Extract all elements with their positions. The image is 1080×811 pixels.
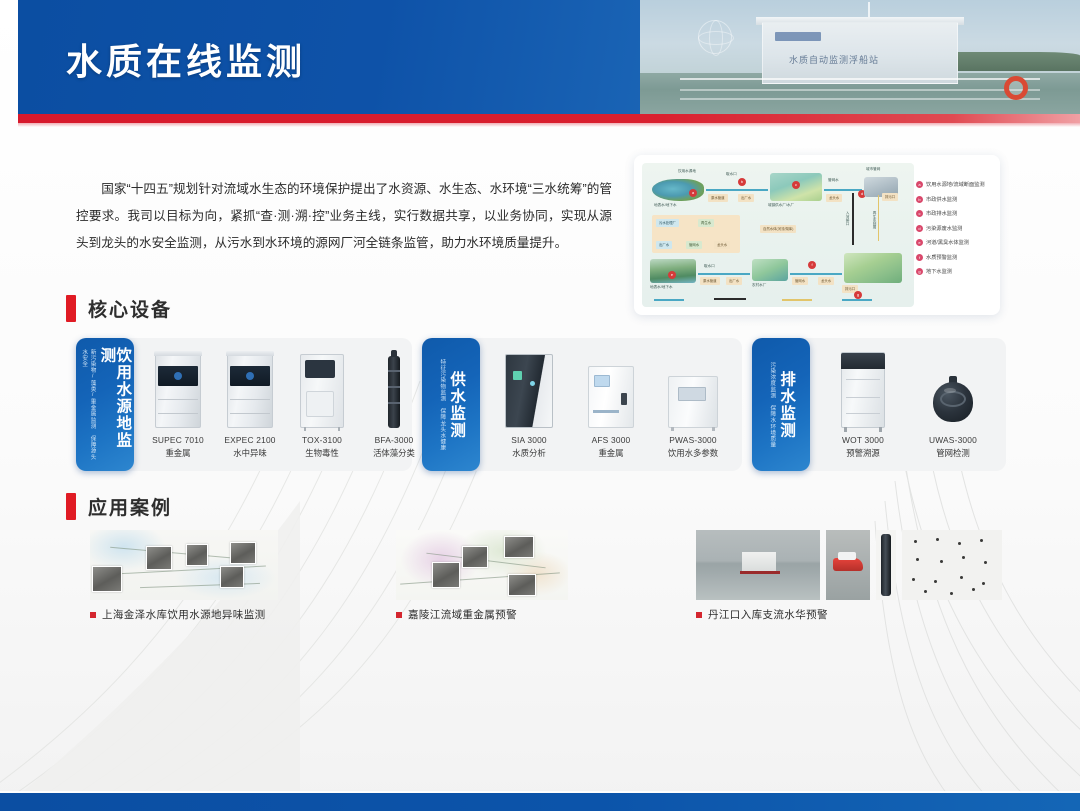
- header-red-stripe: [18, 114, 1080, 123]
- page-title: 水质在线监测: [66, 33, 306, 85]
- case-caption: 嘉陵江流域重金属预警: [396, 607, 568, 622]
- legend-item: f 水质预警监测: [916, 254, 990, 261]
- legend-item: g 地下水监测: [916, 268, 990, 275]
- cases-row: 上海金泽水库饮用水源地异味监测 嘉陵江流域重金属预警: [76, 530, 1006, 640]
- section-heading-core-equipment: 核心设备: [66, 295, 172, 322]
- diagram-inset-chip-5: 龙头水: [714, 241, 730, 249]
- section-bar-icon: [66, 295, 76, 322]
- case-photo-probe: [876, 530, 896, 600]
- equipment-items: WOT 3000 预警溯源 UWAS-3000 管网检测: [810, 338, 1006, 471]
- diagram-label-surface-water: 地表水/地下水: [654, 203, 677, 208]
- diagram-label-reuse: 再生水回用: [873, 211, 878, 229]
- legend-label: 市政供水监测: [926, 196, 957, 203]
- equipment-badge-subtitle: 特征污染物监测 保障龙头水健康: [438, 359, 446, 451]
- diagram-label-rural-pipe: 取水口: [704, 264, 715, 269]
- diagram-pipe-to-city: [790, 273, 842, 275]
- section-heading-applications: 应用案例: [66, 493, 172, 520]
- equipment-badge-subtitle: 污染浓度监测 保障水环境质量: [768, 362, 776, 448]
- legend-label: 污染源废水监测: [926, 225, 962, 232]
- tall-cabinet-icon: [841, 350, 885, 428]
- case-photo-usv-boat: [826, 530, 870, 600]
- panel-analyzer-icon: [668, 350, 718, 428]
- header-stripe-shadow: [18, 123, 1080, 127]
- diagram-canvas: 饮用水源地 地表水/地下水 a b 取水口 原水管道 出厂水 c 城镇供水厂/水…: [642, 163, 914, 307]
- legend-label: 饮用水源地/流域断面监测: [926, 181, 985, 188]
- legend-item: b 市政供水监测: [916, 196, 990, 203]
- legend-item: e 河道/黑臭水体监测: [916, 239, 990, 246]
- equipment-item-name: EXPEC 2100: [224, 435, 275, 445]
- diagram-badge-g: g: [854, 291, 862, 299]
- lifebuoy-icon: [1004, 76, 1028, 100]
- legend-item: c 市政排水监测: [916, 210, 990, 217]
- diagram-badge-a: a: [689, 189, 697, 197]
- legend-marker-icon: e: [916, 239, 923, 246]
- diagram-chip-tap-water: 龙头水: [826, 194, 842, 202]
- diagram-inset-chip-1: 污水处理厂: [656, 219, 679, 227]
- equipment-item-desc: 预警溯源: [846, 447, 880, 459]
- cabinet-analyzer-icon: [227, 350, 273, 428]
- legend-item: a 饮用水源地/流域断面监测: [916, 181, 990, 188]
- diagram-trunk-main: [852, 193, 854, 245]
- diagram-key-line-2: [714, 298, 746, 300]
- equipment-item[interactable]: SUPEC 7010 重金属: [142, 350, 214, 459]
- legend-label: 水质预警监测: [926, 254, 957, 261]
- legend-label: 地下水监测: [926, 268, 952, 275]
- diagram-badge-f: f: [808, 261, 816, 269]
- legend-label: 河道/黑臭水体监测: [926, 239, 969, 246]
- diagram-label-waterworks: 城镇供水厂/水厂: [768, 203, 794, 208]
- white-cabinet-icon: [588, 350, 634, 428]
- diagram-key-line-3: [782, 299, 812, 301]
- equipment-item-desc: 管网检测: [936, 447, 970, 459]
- equipment-item[interactable]: EXPEC 2100 水中异味: [214, 350, 286, 459]
- dark-cabinet-icon: [505, 350, 553, 428]
- station-logo-mark-icon: [775, 32, 821, 41]
- diagram-key-line-1: [654, 299, 684, 301]
- equipment-item[interactable]: TOX-3100 生物毒性: [286, 350, 358, 459]
- equipment-item[interactable]: BFA-3000 活体藻分类: [358, 350, 430, 459]
- legend-marker-icon: b: [916, 196, 923, 203]
- diagram-chip-intake-label: 取水口: [726, 172, 737, 177]
- legend-marker-icon: f: [916, 254, 923, 261]
- diagram-label-trunk: 入河排口: [846, 211, 851, 225]
- equipment-card-water-supply[interactable]: 供水监测 特征污染物监测 保障龙头水健康 SIA 3000 水质分析 AFS 3…: [422, 338, 742, 471]
- water-cycle-diagram-panel: 饮用水源地 地表水/地下水 a b 取水口 原水管道 出厂水 c 城镇供水厂/水…: [634, 155, 1000, 315]
- dome-sensor-icon: [929, 350, 977, 428]
- diagram-chip-rural-2: 出厂水: [726, 277, 742, 285]
- legend-marker-icon: d: [916, 225, 923, 232]
- equipment-badge: 供水监测 特征污染物监测 保障龙头水健康: [422, 338, 480, 471]
- legend-marker-icon: c: [916, 210, 923, 217]
- equipment-item-name: UWAS-3000: [929, 435, 977, 445]
- diagram-chip-city-2: 龙头水: [818, 277, 834, 285]
- diagram-inset-chip-4: 管网水: [686, 241, 702, 249]
- case-caption: 上海金泽水库饮用水源地异味监测: [90, 607, 278, 622]
- equipment-item[interactable]: AFS 3000 重金属: [575, 350, 647, 459]
- case-card[interactable]: 嘉陵江流域重金属预警: [396, 530, 568, 622]
- shanghai-reservoir-map-collage: [90, 530, 278, 600]
- equipment-item[interactable]: UWAS-3000 管网检测: [917, 350, 989, 459]
- diagram-chip-raw-pipe: 原水管道: [708, 194, 728, 202]
- section-title: 应用案例: [88, 493, 172, 520]
- equipment-items: SIA 3000 水质分析 AFS 3000 重金属 PWAS-3000 饮用水…: [480, 338, 742, 471]
- diagram-legend: a 饮用水源地/流域断面监测 b 市政供水监测 c 市政排水监测 d 污染源废水…: [916, 181, 990, 283]
- case-caption: 丹江口入库支流水华预警: [696, 607, 1002, 622]
- equipment-item[interactable]: WOT 3000 预警溯源: [827, 350, 899, 459]
- diagram-label-rural-plant: 农村水厂: [752, 283, 766, 288]
- diagram-chip-discharge: 排污口: [882, 193, 898, 201]
- equipment-item[interactable]: SIA 3000 水质分析: [493, 350, 565, 459]
- case-photo-algae-plate: [902, 530, 1002, 600]
- banner-station-label: 水质自动监测浮船站: [789, 53, 879, 66]
- case-card[interactable]: 上海金泽水库饮用水源地异味监测: [90, 530, 278, 622]
- equipment-item-name: PWAS-3000: [669, 435, 717, 445]
- rural-plant-scene: [752, 259, 788, 281]
- equipment-item-name: SUPEC 7010: [152, 435, 204, 445]
- diagram-trunk-reuse: [878, 195, 879, 241]
- equipment-items: SUPEC 7010 重金属 EXPEC 2100 水中异味 TOX-3100: [134, 338, 438, 471]
- banner-station-building: 水质自动监测浮船站: [762, 22, 958, 84]
- probe-icon: [388, 350, 400, 428]
- equipment-item-desc: 重金属: [165, 447, 190, 459]
- diagram-inset-chip-2: 再生水: [698, 219, 714, 227]
- equipment-card-drainage[interactable]: 排水监测 污染浓度监测 保障水环境质量 WOT 3000 预警溯源: [752, 338, 1006, 471]
- section-bar-icon: [66, 493, 76, 520]
- equipment-card-drinking-source[interactable]: 饮用水源地监测 新污染物/藻类/重金属监测 保障源头水安全 SUPEC 7010…: [76, 338, 412, 471]
- diagram-badge-e: e: [668, 271, 676, 279]
- equipment-badge-title: 排水监测: [778, 371, 794, 439]
- city-scene: [844, 253, 902, 283]
- intro-paragraph: 国家“十四五”规划针对流域水生态的环境保护提出了水资源、水生态、水环境“三水统筹…: [76, 176, 612, 257]
- diagram-pipe-network: [824, 189, 862, 191]
- equipment-badge-subtitle: 新污染物/藻类/重金属监测 保障源头水安全: [80, 349, 97, 461]
- cabinet-analyzer-icon: [155, 350, 201, 428]
- diagram-center-chip: 自然水体(河流/湖库): [760, 225, 796, 233]
- equipment-badge-title: 供水监测: [448, 371, 464, 439]
- equipment-row: 饮用水源地监测 新污染物/藻类/重金属监测 保障源头水安全 SUPEC 7010…: [76, 338, 1006, 471]
- banner-railing: [680, 78, 1040, 100]
- analyzer-cabinet-icon: [300, 350, 344, 428]
- globe-watermark-icon: [698, 20, 732, 54]
- equipment-badge: 排水监测 污染浓度监测 保障水环境质量: [752, 338, 810, 471]
- equipment-item-name: AFS 3000: [592, 435, 631, 445]
- equipment-item-name: BFA-3000: [375, 435, 414, 445]
- page-header: 水质自动监测浮船站 水质在线监测: [18, 0, 1080, 114]
- case-caption-text: 丹江口入库支流水华预警: [708, 607, 828, 622]
- equipment-item-desc: 重金属: [598, 447, 623, 459]
- diagram-pipe-rural: [698, 273, 750, 275]
- diagram-label-source: 饮用水源地: [678, 169, 696, 174]
- diagram-chip-city-1: 管网水: [792, 277, 808, 285]
- diagram-chip-network-label: 管网水: [828, 178, 839, 183]
- diagram-label-rural-source: 地表水/地下水: [650, 285, 673, 290]
- diagram-chip-outlet-water: 出厂水: [738, 194, 754, 202]
- equipment-item[interactable]: PWAS-3000 饮用水多参数: [657, 350, 729, 459]
- diagram-key-line-4: [842, 299, 872, 301]
- danjiangkou-photo-set: [696, 530, 1002, 600]
- equipment-item-name: SIA 3000: [511, 435, 547, 445]
- legend-item: d 污染源废水监测: [916, 225, 990, 232]
- footer-bar: [0, 793, 1080, 811]
- diagram-badge-b: b: [738, 178, 746, 186]
- diagram-label-urban: 城市管网: [866, 167, 880, 172]
- equipment-item-desc: 水质分析: [512, 447, 546, 459]
- equipment-item-name: WOT 3000: [842, 435, 884, 445]
- header-banner-photo: 水质自动监测浮船站: [640, 0, 1080, 114]
- diagram-inset-chip-3: 出厂水: [656, 241, 672, 249]
- case-card[interactable]: 丹江口入库支流水华预警: [696, 530, 1002, 622]
- diagram-badge-c: c: [792, 181, 800, 189]
- case-photo-floating-station: [696, 530, 820, 600]
- equipment-badge: 饮用水源地监测 新污染物/藻类/重金属监测 保障源头水安全: [76, 338, 134, 471]
- jialing-river-basin-map-collage: [396, 530, 568, 600]
- case-caption-text: 嘉陵江流域重金属预警: [408, 607, 517, 622]
- equipment-item-desc: 活体藻分类: [373, 447, 415, 459]
- case-caption-text: 上海金泽水库饮用水源地异味监测: [102, 607, 266, 622]
- legend-marker-icon: a: [916, 181, 923, 188]
- legend-label: 市政排水监测: [926, 210, 957, 217]
- poster-page: 水质自动监测浮船站 水质在线监测 国家“十四五”规划针对流域水生态的环境保护提出…: [0, 0, 1080, 811]
- bullet-square-icon: [396, 612, 402, 618]
- bullet-square-icon: [90, 612, 96, 618]
- section-title: 核心设备: [88, 295, 172, 322]
- equipment-item-desc: 生物毒性: [305, 447, 339, 459]
- legend-marker-icon: g: [916, 268, 923, 275]
- diagram-pipe-raw-water: [706, 189, 768, 191]
- equipment-badge-title: 饮用水源地监测: [99, 347, 131, 462]
- equipment-item-name: TOX-3100: [302, 435, 342, 445]
- diagram-chip-rural-1: 原水管道: [700, 277, 720, 285]
- bullet-square-icon: [696, 612, 702, 618]
- equipment-item-desc: 饮用水多参数: [668, 447, 718, 459]
- equipment-item-desc: 水中异味: [233, 447, 267, 459]
